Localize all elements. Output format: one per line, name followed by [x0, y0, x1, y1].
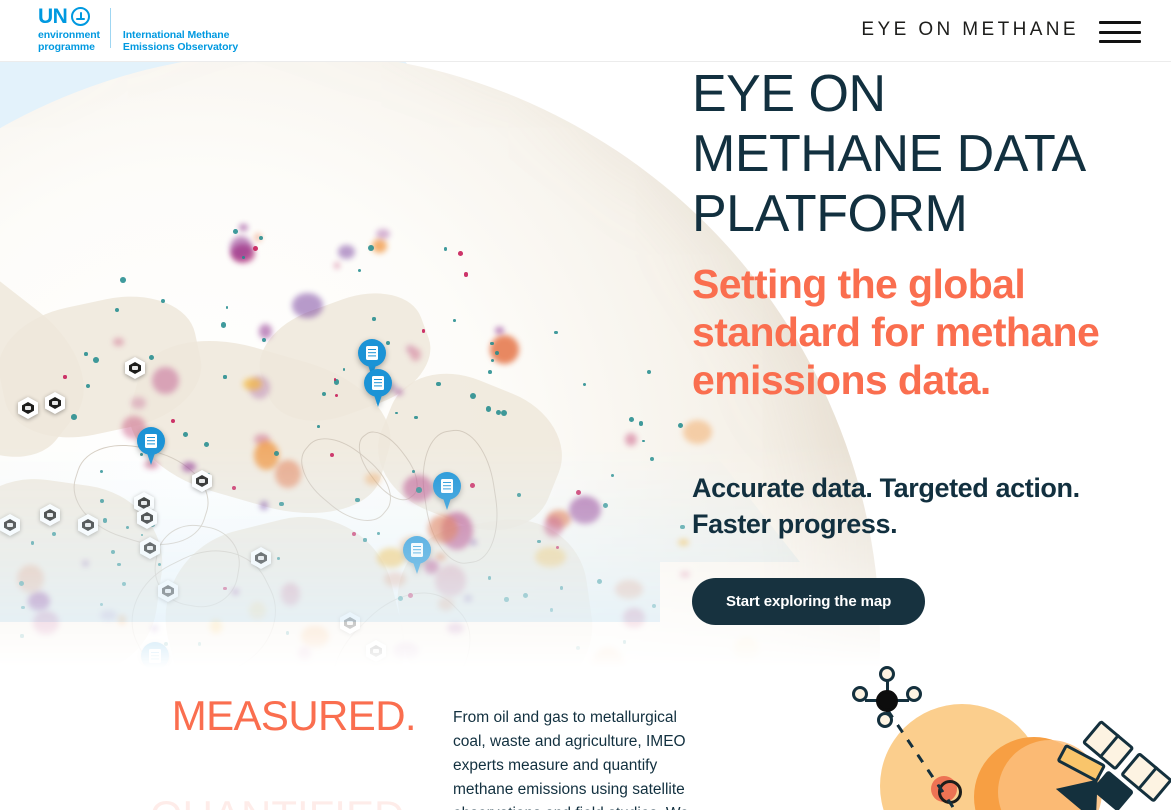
unep-imeo-logo[interactable]: UN environment programme International M…: [38, 6, 238, 53]
facility-dot: [84, 352, 88, 356]
facility-dot: [496, 410, 501, 415]
facility-dot: [100, 499, 104, 503]
detection-dot: [422, 329, 426, 333]
imeo-line2: Emissions Observatory: [123, 42, 238, 54]
report-pin-icon: [364, 369, 392, 407]
emission-plume: [230, 236, 253, 260]
detection-dot: [335, 394, 338, 397]
menu-bar-1: [1099, 21, 1141, 24]
hexagon-site-marker-icon: [340, 612, 360, 634]
section-body-text: From oil and gas to metallurgical coal, …: [453, 706, 705, 810]
facility-dot: [414, 416, 418, 420]
facility-dot: [504, 597, 509, 602]
facility-dot: [436, 382, 441, 387]
facility-dot: [274, 451, 279, 456]
hero-copy: EYE ON METHANE DATA PLATFORM Setting the…: [692, 62, 1147, 625]
emission-plume: [435, 553, 446, 561]
methane-molecule-icon: [850, 668, 928, 732]
emission-plume: [338, 245, 354, 259]
emission-plume: [592, 648, 624, 680]
hex-outline: [0, 665, 3, 682]
emission-plume: [301, 626, 329, 647]
facility-dot: [453, 319, 456, 322]
un-wordmark: UN: [38, 6, 67, 27]
start-exploring-map-button[interactable]: Start exploring the map: [692, 578, 925, 625]
hexagon-site-marker-icon: [140, 537, 160, 559]
emission-plume: [365, 473, 381, 484]
hexagon-site-marker-icon: [158, 580, 178, 602]
hero-section: EYE ON METHANE DATA PLATFORM Setting the…: [0, 62, 1171, 682]
emission-plume: [615, 580, 643, 599]
facility-dot: [93, 357, 99, 363]
facility-dot: [317, 425, 320, 428]
hexagon-site-marker-icon: [366, 640, 386, 662]
report-document-icon: [411, 543, 423, 557]
emission-plume: [259, 324, 272, 339]
facility-dot: [488, 370, 492, 374]
report-pin-icon: [137, 427, 165, 465]
emission-plume: [495, 327, 504, 334]
facility-dot: [52, 532, 56, 536]
emission-plume: [376, 229, 390, 240]
facility-dot: [286, 631, 289, 634]
emission-plume: [470, 540, 477, 544]
report-document-icon: [145, 434, 157, 448]
unep-logo-line2: programme: [38, 42, 100, 54]
hexagon-site-marker-icon: [40, 504, 60, 526]
section-headline-next: QUANTIFIED.: [148, 792, 416, 810]
report-document-icon: [441, 479, 453, 493]
hydrogen-atom-top: [879, 666, 895, 682]
emission-plume: [292, 293, 323, 318]
emission-plume: [435, 565, 467, 597]
emission-plume: [569, 496, 601, 524]
emission-plume: [428, 515, 458, 544]
facility-dot: [642, 440, 645, 443]
facility-dot: [233, 229, 238, 234]
carbon-atom: [876, 690, 898, 712]
hexagon-site-marker-icon: [0, 665, 3, 682]
facility-dot: [486, 406, 491, 411]
emission-plume: [232, 589, 238, 595]
hamburger-menu-icon[interactable]: [1099, 18, 1141, 46]
facility-dot: [363, 538, 366, 541]
un-wordmark-row: UN: [38, 6, 100, 27]
emission-plume: [464, 595, 472, 601]
emission-plume: [151, 625, 158, 632]
facility-dot: [416, 487, 422, 493]
emission-plume: [131, 397, 146, 410]
emission-plume: [544, 516, 563, 537]
facility-dot: [395, 412, 398, 415]
emission-plume: [118, 615, 126, 625]
emission-plume: [372, 239, 387, 253]
hexagon-site-marker-icon: [125, 357, 145, 379]
hero-subtitle: Setting the global standard for methane …: [692, 260, 1147, 404]
imeo-line1: International Methane: [123, 30, 238, 42]
report-document-icon: [372, 376, 384, 390]
emission-plume: [28, 592, 50, 611]
emission-plume: [239, 224, 248, 231]
facility-dot: [398, 596, 403, 601]
menu-bar-3: [1099, 40, 1141, 43]
emission-plume: [447, 623, 464, 634]
detection-dot: [458, 251, 463, 256]
facility-dot: [31, 541, 34, 544]
emission-plume: [410, 348, 421, 362]
facility-dot: [501, 410, 507, 416]
imeo-logo: International Methane Emissions Observat…: [123, 6, 238, 53]
emission-plume: [260, 501, 268, 510]
unep-logo: UN environment programme: [38, 6, 100, 53]
facility-dot: [120, 277, 126, 283]
page-title: EYE ON METHANE DATA PLATFORM: [692, 64, 1147, 244]
detection-dot: [63, 375, 66, 378]
facility-dot: [279, 502, 283, 506]
facility-dot: [537, 540, 540, 543]
facility-dot: [470, 393, 476, 399]
site-header: UN environment programme International M…: [0, 0, 1171, 62]
facility-dot: [355, 498, 359, 502]
report-pin-icon: [403, 536, 431, 574]
facility-dot: [221, 322, 227, 328]
facility-dot: [623, 640, 626, 643]
unep-logo-line1: environment: [38, 30, 100, 42]
logo-divider: [110, 8, 111, 48]
brand-title: EYE ON METHANE: [861, 19, 1079, 41]
emission-plume: [680, 571, 690, 578]
facility-dot: [629, 417, 634, 422]
emission-plume: [249, 602, 266, 620]
facility-dot: [444, 247, 448, 251]
facility-dot: [204, 442, 209, 447]
hexagon-site-marker-icon: [192, 470, 212, 492]
hydrogen-atom-right: [906, 686, 922, 702]
facility-dot: [183, 432, 188, 437]
facility-dot: [372, 317, 375, 320]
emission-plume: [82, 560, 89, 567]
facility-dot: [20, 634, 23, 637]
facility-dot: [488, 576, 491, 579]
report-document-icon: [149, 649, 161, 663]
facility-dot: [386, 341, 390, 345]
emission-plume: [334, 262, 340, 268]
facility-dot: [560, 586, 564, 590]
report-document-icon: [366, 346, 378, 360]
facility-dot: [223, 375, 226, 378]
facility-dot: [652, 604, 656, 608]
hero-tagline: Accurate data. Targeted action. Faster p…: [692, 470, 1147, 542]
emission-plume: [734, 637, 758, 663]
un-emblem-icon: [71, 7, 90, 26]
hydrogen-atom-left: [852, 686, 868, 702]
section-headline: MEASURED.: [148, 692, 416, 740]
menu-bar-2: [1099, 31, 1141, 34]
hexagon-site-marker-icon: [18, 397, 38, 419]
emission-plume: [33, 611, 58, 635]
detection-dot: [171, 419, 175, 423]
facility-dot: [412, 470, 415, 473]
emission-plume: [243, 378, 262, 391]
hexagon-site-marker-icon: [137, 507, 157, 529]
facility-dot: [259, 236, 263, 240]
satellite-icon: [1037, 713, 1171, 810]
hydrogen-atom-bottom: [877, 712, 893, 728]
emission-plume: [393, 643, 418, 660]
report-pin-icon: [433, 472, 461, 510]
emission-plume: [17, 565, 43, 593]
facility-dot: [550, 608, 553, 611]
hexagon-site-marker-icon: [45, 392, 65, 414]
facility-dot: [71, 414, 77, 420]
emission-plume: [152, 367, 179, 395]
detection-dot: [470, 483, 475, 488]
hexagon-site-marker-icon: [251, 547, 271, 569]
facility-dot: [198, 642, 202, 646]
satellite-illustration: [826, 662, 1171, 810]
report-pin-icon: [141, 642, 169, 680]
emission-plume: [535, 547, 566, 567]
hexagon-site-marker-icon: [78, 514, 98, 536]
hexagon-site-marker-icon: [0, 514, 20, 536]
